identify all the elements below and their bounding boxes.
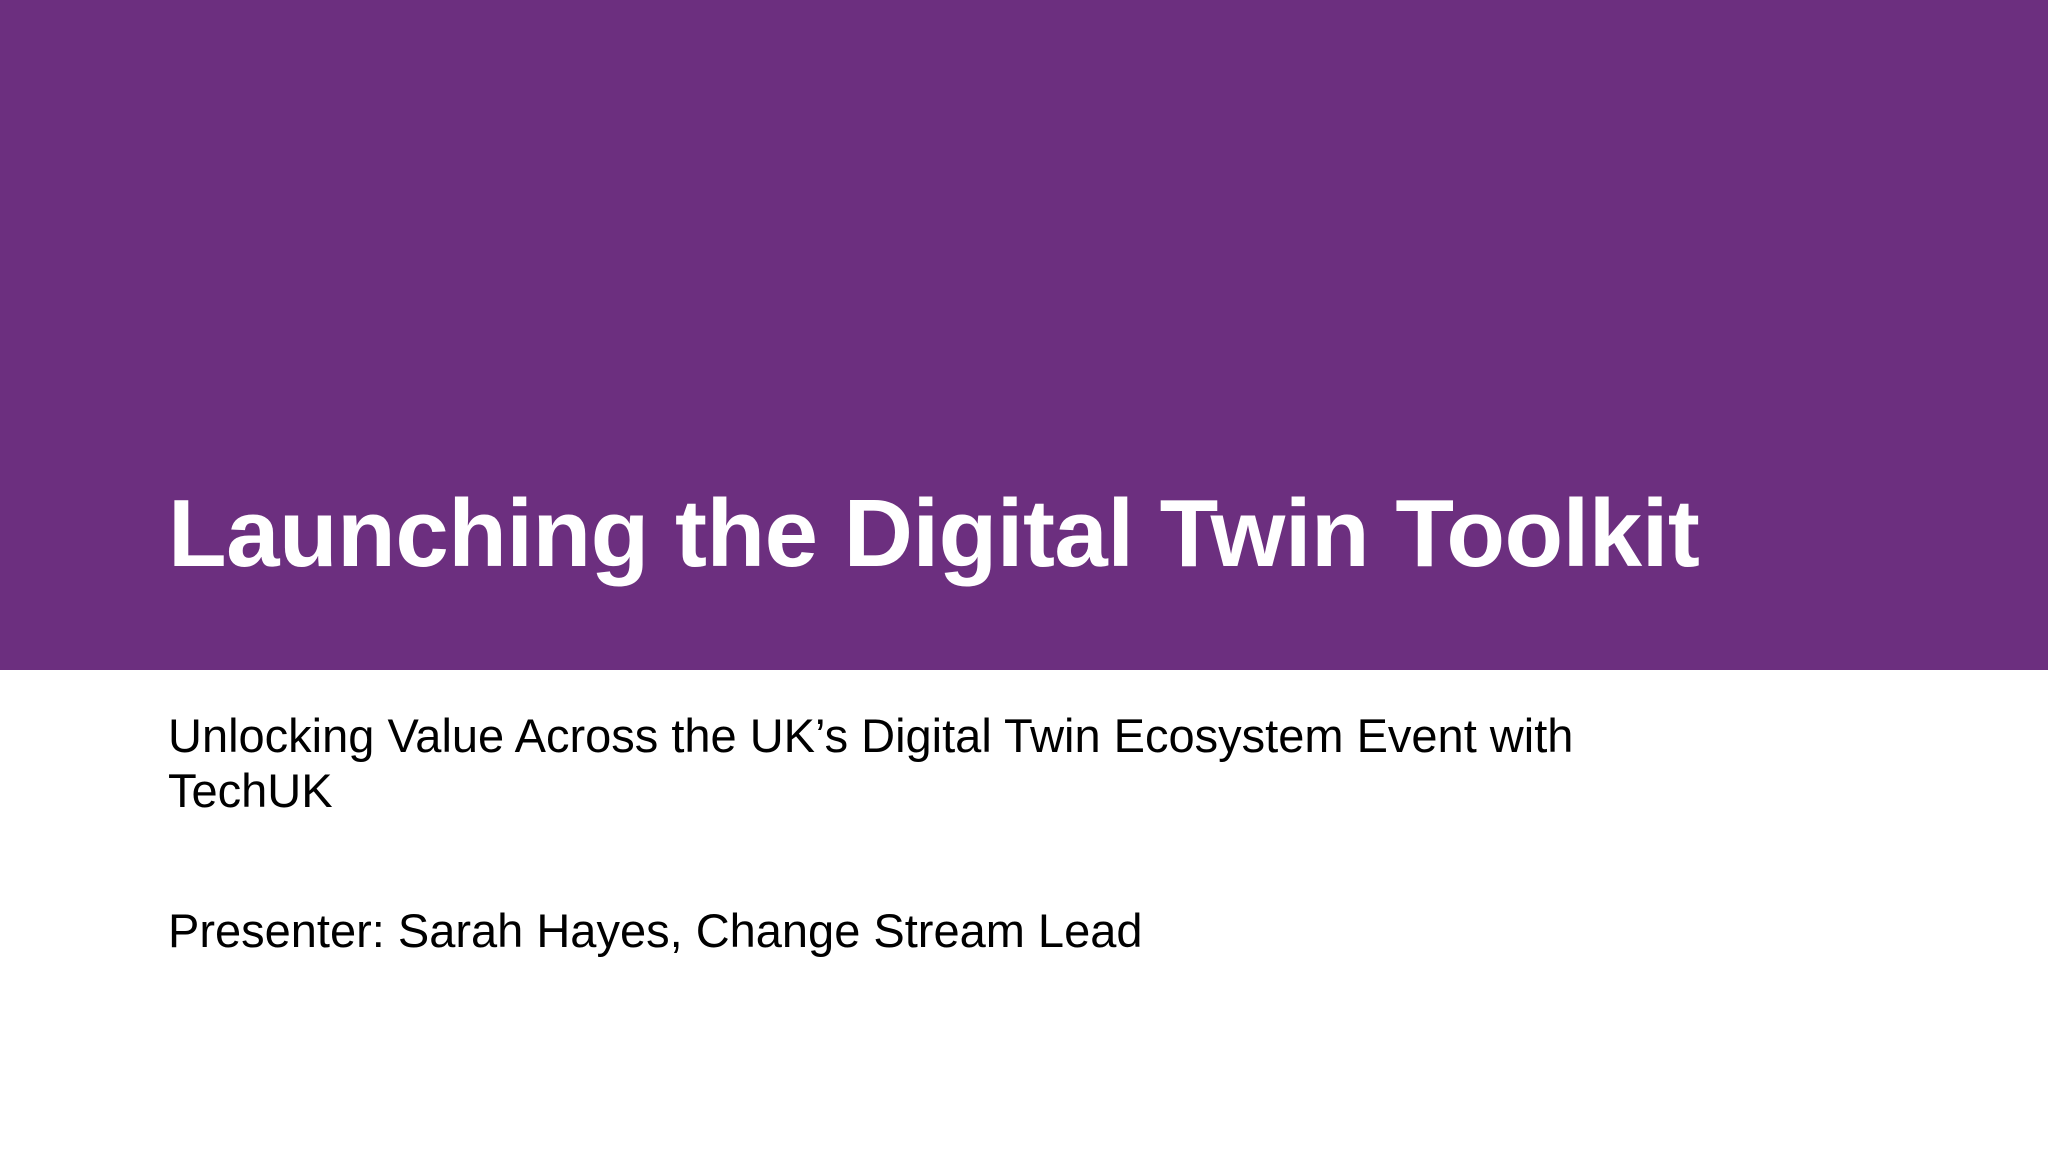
title-banner-content: Launching the Digital Twin Toolkit bbox=[168, 0, 1968, 670]
body-spacer bbox=[168, 819, 1808, 903]
presentation-slide: Launching the Digital Twin Toolkit Unloc… bbox=[0, 0, 2048, 1152]
slide-body: Unlocking Value Across the UK’s Digital … bbox=[0, 670, 2048, 1152]
presenter-credit: Presenter: Sarah Hayes, Change Stream Le… bbox=[168, 903, 1808, 958]
slide-subtitle: Unlocking Value Across the UK’s Digital … bbox=[168, 708, 1728, 819]
title-banner: Launching the Digital Twin Toolkit bbox=[0, 0, 2048, 670]
page-title: Launching the Digital Twin Toolkit bbox=[168, 486, 1968, 582]
slide-body-content: Unlocking Value Across the UK’s Digital … bbox=[168, 708, 1808, 958]
